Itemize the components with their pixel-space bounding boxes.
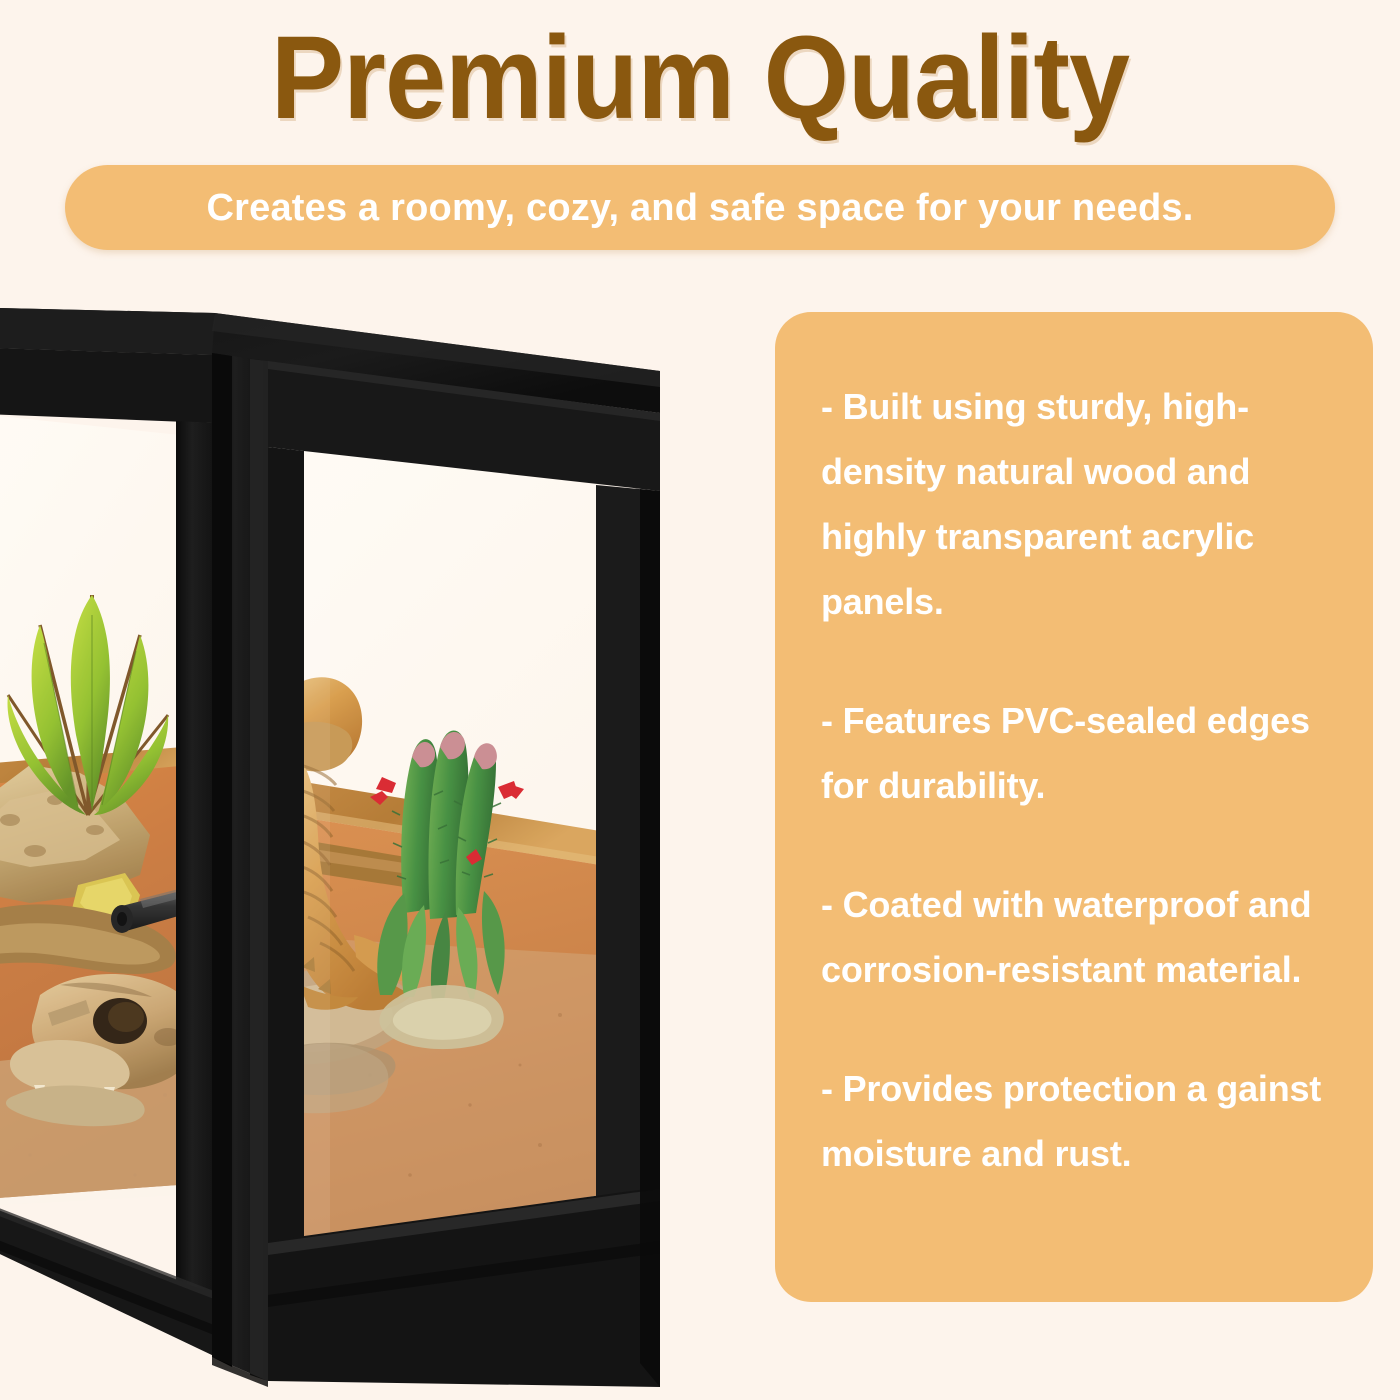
feature-item: - Provides protection a gainst moisture … [821,1056,1345,1186]
feature-item: - Coated with waterproof and corrosion-r… [821,872,1345,1002]
header: Premium Quality Creates a roomy, cozy, a… [0,0,1400,300]
terrarium-illustration [0,295,660,1400]
left-glass-panel [0,413,201,1207]
feature-item: - Built using sturdy, high-density natur… [821,374,1345,634]
subtitle-text: Creates a roomy, cozy, and safe space fo… [206,187,1193,229]
subtitle-banner: Creates a roomy, cozy, and safe space fo… [65,165,1335,250]
page-title: Premium Quality [49,18,1351,138]
product-photo [0,295,660,1400]
feature-item: - Features PVC-sealed edges for durabili… [821,688,1345,818]
features-panel: - Built using sturdy, high-density natur… [775,312,1373,1302]
